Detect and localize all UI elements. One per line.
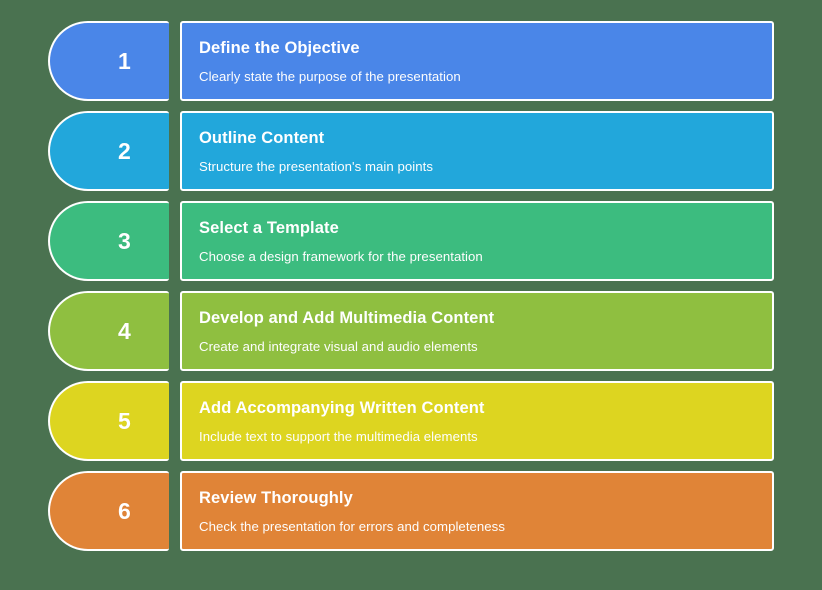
step-title: Develop and Add Multimedia Content xyxy=(199,309,754,328)
step-number-badge: 5 xyxy=(48,381,169,461)
step-row: 5Add Accompanying Written ContentInclude… xyxy=(48,381,774,461)
step-number-label: 3 xyxy=(118,230,131,253)
step-divider-gap xyxy=(169,291,180,371)
step-title: Add Accompanying Written Content xyxy=(199,399,754,418)
step-row: 3Select a TemplateChoose a design framew… xyxy=(48,201,774,281)
step-row: 2Outline ContentStructure the presentati… xyxy=(48,111,774,191)
step-row: 1Define the ObjectiveClearly state the p… xyxy=(48,21,774,101)
step-row: 4Develop and Add Multimedia ContentCreat… xyxy=(48,291,774,371)
step-number-label: 6 xyxy=(118,500,131,523)
step-number-label: 2 xyxy=(118,140,131,163)
step-description: Clearly state the purpose of the present… xyxy=(199,69,754,85)
step-number-label: 5 xyxy=(118,410,131,433)
step-content-panel: Review ThoroughlyCheck the presentation … xyxy=(180,471,774,551)
step-content-panel: Outline ContentStructure the presentatio… xyxy=(180,111,774,191)
step-divider-gap xyxy=(169,381,180,461)
step-title: Select a Template xyxy=(199,219,754,238)
step-number-badge: 4 xyxy=(48,291,169,371)
step-number-badge: 1 xyxy=(48,21,169,101)
step-number-label: 1 xyxy=(118,50,131,73)
step-divider-gap xyxy=(169,111,180,191)
step-content-panel: Select a TemplateChoose a design framewo… xyxy=(180,201,774,281)
step-number-badge: 6 xyxy=(48,471,169,551)
step-description: Choose a design framework for the presen… xyxy=(199,249,754,265)
step-content-panel: Develop and Add Multimedia ContentCreate… xyxy=(180,291,774,371)
step-content-panel: Add Accompanying Written ContentInclude … xyxy=(180,381,774,461)
step-number-label: 4 xyxy=(118,320,131,343)
step-number-badge: 3 xyxy=(48,201,169,281)
step-divider-gap xyxy=(169,201,180,281)
process-steps-infographic: 1Define the ObjectiveClearly state the p… xyxy=(0,0,822,590)
step-divider-gap xyxy=(169,471,180,551)
step-number-badge: 2 xyxy=(48,111,169,191)
step-row: 6Review ThoroughlyCheck the presentation… xyxy=(48,471,774,551)
step-title: Outline Content xyxy=(199,129,754,148)
step-title: Review Thoroughly xyxy=(199,489,754,508)
step-description: Check the presentation for errors and co… xyxy=(199,519,754,535)
step-content-panel: Define the ObjectiveClearly state the pu… xyxy=(180,21,774,101)
step-description: Structure the presentation's main points xyxy=(199,159,754,175)
step-divider-gap xyxy=(169,21,180,101)
step-description: Create and integrate visual and audio el… xyxy=(199,339,754,355)
step-description: Include text to support the multimedia e… xyxy=(199,429,754,445)
step-title: Define the Objective xyxy=(199,39,754,58)
